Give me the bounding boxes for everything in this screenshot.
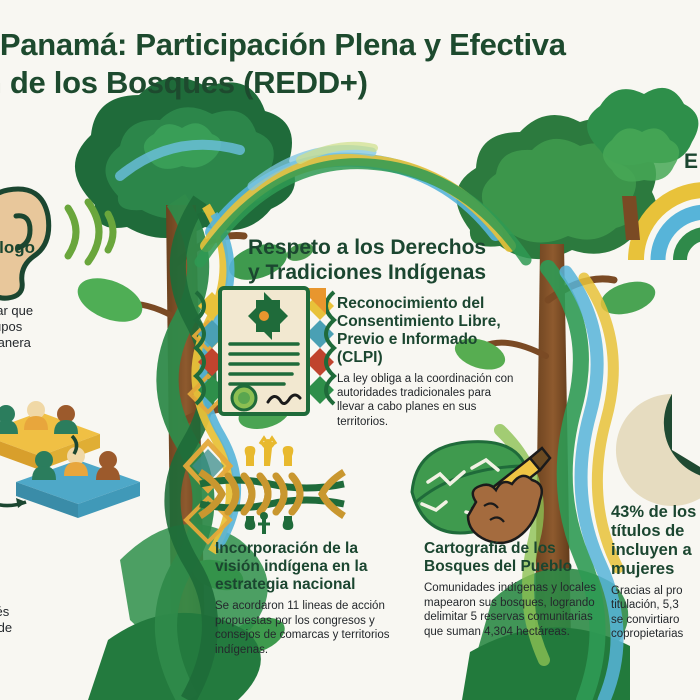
braided-rope-people-icon — [198, 442, 346, 538]
left-card-participacion-body: n 6 Consejos os y 25 Comités ara la gest… — [0, 588, 216, 654]
heading-line-2: Consentimiento Libre, — [337, 313, 519, 331]
center-card-clpi: Reconocimiento del Consentimiento Libre,… — [337, 295, 519, 429]
heading-line-4: (CLPI) — [337, 349, 519, 367]
heading-line-2: Bosques del Pueblo — [424, 558, 614, 576]
body-line-3: uchadas de manera — [0, 335, 216, 351]
center-card-vision-heading: Incorporación de la visión indígena en l… — [215, 540, 411, 594]
body-line-2: os y 25 Comités — [0, 604, 216, 620]
body-line-4: copropietarias — [611, 627, 700, 641]
right-section-title-text: E — [684, 150, 700, 175]
body-line-1: n 6 Consejos — [0, 588, 216, 604]
center-card-cartografia-body: Comunidades indígenas y locales mapearon… — [424, 581, 614, 639]
heading-line-2: pación — [0, 523, 216, 543]
heading-line-1: 43% de los — [611, 503, 700, 522]
left-section-title-line1: ar en — [0, 118, 238, 143]
body-line-1: Gracias al pro — [611, 584, 700, 598]
body-line-2: titulación, 5,3 — [611, 598, 700, 612]
center-card-clpi-heading: Reconocimiento del Consentimiento Libre,… — [337, 295, 519, 368]
body-line-3: se convirtiaro — [611, 613, 700, 627]
heading-line-1: rmas de — [0, 503, 216, 523]
heading-line-4: mujeres — [611, 560, 700, 579]
pie-chart-titulos-mujeres: 43 — [612, 392, 700, 512]
right-card-titulos-body: Gracias al pro titulación, 5,3 se convir… — [611, 584, 700, 642]
center-card-vision: Incorporación de la visión indígena en l… — [215, 540, 411, 657]
center-card-cartografia: Cartografía de los Bosques del Pueblo Co… — [424, 540, 614, 639]
center-section-title: Respeto a los Derechos y Tradiciones Ind… — [248, 236, 538, 285]
heading-line-1: Reconocimiento del — [337, 295, 519, 313]
heading-line-3: Previo e Informado — [337, 331, 519, 349]
body-line-2: e todos los grupos — [0, 319, 216, 335]
left-card-dialogo-body: a para asegurar que e todos los grupos u… — [0, 303, 216, 369]
left-card-participacion: rmas de pación itaria idadas n 6 Consejo… — [0, 503, 216, 653]
center-card-clpi-body: La ley obliga a la coordinación con auto… — [337, 372, 519, 430]
heading-line-3: estrategia nacional — [215, 576, 411, 594]
body-line-4: clusiva. — [0, 352, 216, 368]
hand-icon — [468, 476, 542, 543]
figure-group-top — [245, 438, 294, 466]
infographic-canvas: en Panamá: Participación Plena y Efectiv… — [0, 0, 700, 700]
indigenous-certificate-icon — [196, 282, 336, 418]
left-card-participacion-heading: rmas de pación itaria idadas — [0, 503, 216, 583]
center-card-vision-body: Se acordaron 11 lineas de acción propues… — [215, 599, 411, 657]
page-title: en Panamá: Participación Plena y Efectiv… — [0, 26, 700, 102]
left-card-dialogo: eso de diálogo en la a Activa" a para as… — [0, 238, 216, 368]
body-line-3: ara la gestión de — [0, 620, 216, 636]
hand-drawing-leaf-map-icon — [406, 438, 556, 542]
heading-line-2: títulos de — [611, 522, 700, 541]
heading-line-2: en la — [0, 258, 216, 278]
right-card-titulos: 43% de los títulos de incluyen a mujeres… — [611, 503, 700, 642]
heading-line-1: Incorporación de la — [215, 540, 411, 558]
heading-line-4: idadas — [0, 563, 216, 583]
left-section-title-line2: ones — [0, 143, 238, 168]
heading-line-3: incluyen a — [611, 541, 700, 560]
woven-border-right — [306, 292, 334, 404]
page-title-line1: en Panamá: Participación Plena y Efectiv… — [0, 26, 700, 64]
figure-group-bottom — [245, 512, 294, 534]
left-card-dialogo-heading: eso de diálogo en la a Activa" — [0, 238, 216, 298]
page-title-line2: ión de los Bosques (REDD+) — [0, 64, 700, 102]
left-section-title: ar en ones — [0, 118, 238, 167]
right-card-titulos-heading: 43% de los títulos de incluyen a mujeres — [611, 503, 700, 579]
people-meeting-icon — [0, 390, 140, 510]
heading-line-3: a Activa" — [0, 278, 216, 298]
body-line-4: a del Canal. — [0, 637, 216, 653]
right-section-title: E — [684, 150, 700, 175]
body-line-1: a para asegurar que — [0, 303, 216, 319]
center-card-cartografia-heading: Cartografía de los Bosques del Pueblo — [424, 540, 614, 576]
heading-line-3: itaria — [0, 543, 216, 563]
heading-line-1: eso de diálogo — [0, 238, 216, 258]
center-section-title-line1: Respeto a los Derechos — [248, 236, 538, 261]
pie-slice-otros — [616, 394, 700, 506]
heading-line-1: Cartografía de los — [424, 540, 614, 558]
heading-line-2: visión indígena en la — [215, 558, 411, 576]
